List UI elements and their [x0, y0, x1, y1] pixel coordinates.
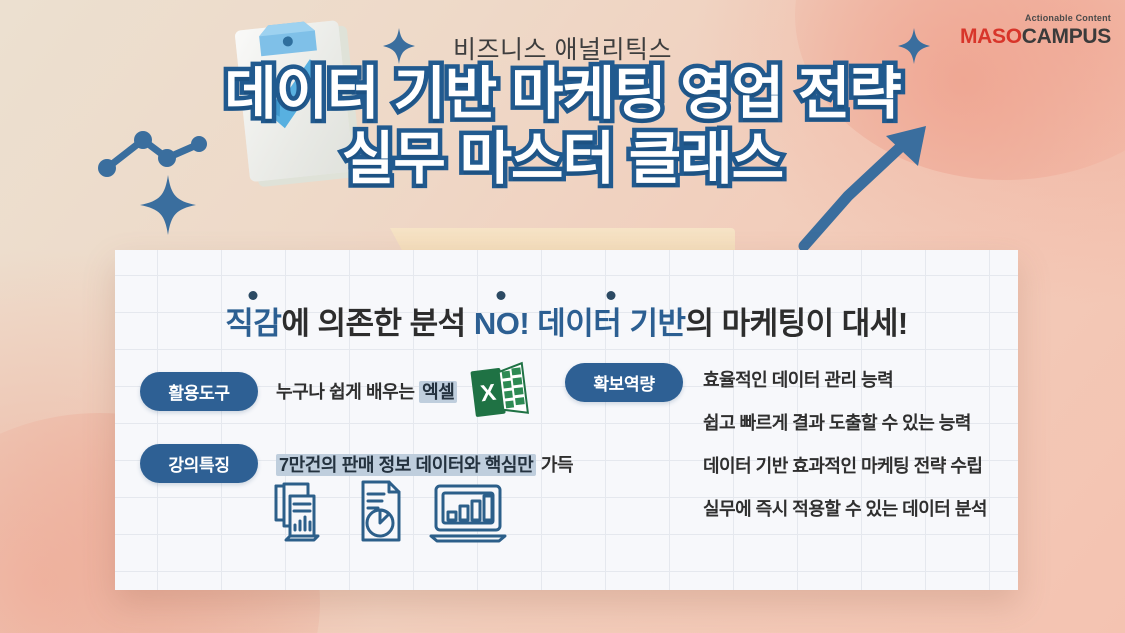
list-item: 실무에 즉시 적용할 수 있는 데이터 분석 — [703, 495, 987, 521]
headline-seg1: 직감 — [225, 306, 281, 341]
skill-list: 효율적인 데이터 관리 능력 쉽고 빠르게 결과 도출할 수 있는 능력 데이터… — [703, 363, 987, 521]
pill-features: 강의특징 — [140, 444, 258, 483]
feature-icon-row — [270, 478, 510, 544]
pill-skills: 확보역량 — [565, 363, 683, 402]
page-title: 데이터 기반 마케팅 영업 전략 실무 마스터 클래스 — [0, 62, 1125, 192]
card-headline: 직감에 의존한 분석 NO! 데이터 기반의 마케팅이 대세! — [115, 298, 1018, 343]
row-tools-text-highlight: 엑셀 — [419, 381, 457, 403]
row-tools-text-plain: 누구나 쉽게 배우는 — [276, 382, 419, 402]
page-title-line-1: 데이터 기반 마케팅 영업 전략 — [0, 62, 1125, 127]
headline-seg6: 의 마케팅이 대세! — [685, 306, 907, 341]
laptop-barchart-icon — [428, 482, 510, 544]
documents-chart-icon — [270, 478, 332, 544]
row-features-text: 7만건의 판매 정보 데이터와 핵심만 가득 — [276, 451, 573, 477]
column-skills: 확보역량 효율적인 데이터 관리 능력 쉽고 빠르게 결과 도출할 수 있는 능… — [565, 363, 987, 521]
logo-tagline: Actionable Content — [960, 14, 1111, 23]
list-item: 쉽고 빠르게 결과 도출할 수 있는 능력 — [703, 409, 987, 435]
document-piechart-icon — [351, 478, 409, 544]
content-card: 직감에 의존한 분석 NO! 데이터 기반의 마케팅이 대세! 활용도구 누구나… — [115, 250, 1018, 590]
headline-seg3: NO! — [474, 306, 529, 341]
list-item: 효율적인 데이터 관리 능력 — [703, 366, 987, 392]
excel-icon: X — [468, 360, 532, 423]
headline-seg2: 에 의존한 분석 — [281, 306, 473, 341]
page-subtitle: 비즈니스 애널리틱스 — [0, 30, 1125, 66]
row-features-text-highlight: 7만건의 판매 정보 데이터와 핵심만 — [276, 454, 536, 476]
promo-banner: Actionable Content MASOCAMPUS — [0, 0, 1125, 633]
pill-tools: 활용도구 — [140, 372, 258, 411]
list-item: 데이터 기반 효과적인 마케팅 전략 수립 — [703, 452, 987, 478]
row-tools-text: 누구나 쉽게 배우는 엑셀 — [276, 378, 457, 404]
page-title-line-2: 실무 마스터 클래스 — [0, 127, 1125, 192]
headline-seg5: 데이터 기반 — [537, 306, 685, 341]
row-tools: 활용도구 누구나 쉽게 배우는 엑셀 X — [140, 363, 529, 419]
